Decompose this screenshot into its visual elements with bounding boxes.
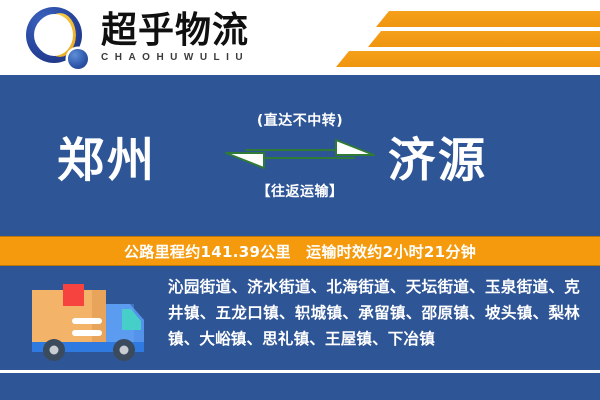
header-stripe-3 [336, 51, 600, 67]
chaohu-logistics-circle-logo-icon [26, 7, 88, 69]
bottom-divider [0, 370, 600, 373]
bidirectional-route-arrow-icon [224, 138, 376, 172]
route-arrow-group: (直达不中转) 【往返运输】 [215, 75, 385, 236]
route-band: 郑州 (直达不中转) 【往返运输】 济源 [0, 75, 600, 236]
brand-text-block: 超乎物流 CHAOHUWULIU [101, 13, 249, 64]
logo-accent-dot-shape [68, 49, 88, 69]
coverage-areas-text: 沁园街道、济水街道、北海街道、天坛街道、玉泉街道、克井镇、五龙口镇、轵城镇、承留… [168, 274, 580, 352]
coverage-section: 沁园街道、济水街道、北海街道、天坛街道、玉泉街道、克井镇、五龙口镇、轵城镇、承留… [0, 266, 600, 400]
distance-duration-text: 公路里程约141.39公里 运输时效约2小时21分钟 [124, 241, 476, 262]
direct-shipping-label: (直达不中转) [257, 110, 343, 130]
roundtrip-shipping-label: 【往返运输】 [257, 181, 344, 201]
destination-city-name: 济源 [388, 121, 488, 190]
distance-duration-bar: 公路里程约141.39公里 运输时效约2小时21分钟 [0, 236, 600, 266]
logo-crescent-cut-shape [35, 14, 73, 56]
header-stripe-2 [368, 31, 600, 47]
delivery-truck-icon [30, 282, 154, 368]
header-stripe-1 [376, 11, 600, 27]
brand-name-chinese: 超乎物流 [101, 13, 249, 50]
brand-name-pinyin: CHAOHUWULIU [101, 52, 249, 63]
origin-city-name: 郑州 [57, 121, 157, 190]
logistics-route-banner: 超乎物流 CHAOHUWULIU 郑州 (直达不中转) 【往返运输】 济源 [0, 0, 600, 400]
brand-logo[interactable]: 超乎物流 CHAOHUWULIU [26, 7, 249, 69]
banner-header: 超乎物流 CHAOHUWULIU [0, 0, 600, 75]
